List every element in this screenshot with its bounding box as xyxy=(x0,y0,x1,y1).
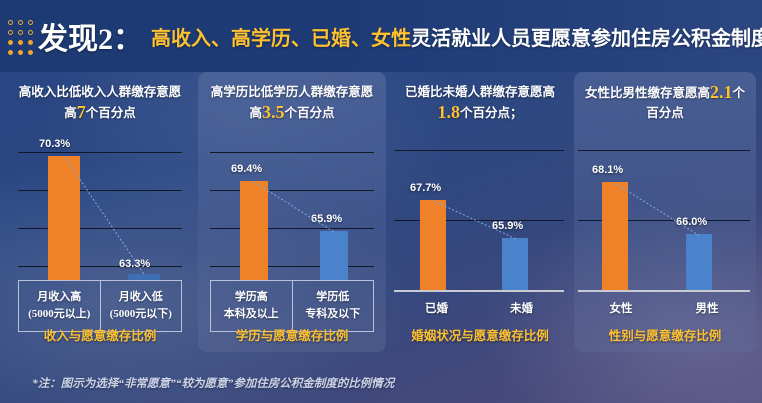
bar-value-high: 67.7% xyxy=(410,182,441,194)
category-cell: 学历低 专科及以下 xyxy=(292,281,374,331)
bar-high xyxy=(240,181,268,280)
bar-high xyxy=(48,156,80,280)
headline-post: 个百分点； xyxy=(460,106,523,120)
stat-card-gender: 女性比男性缴存意愿高2.1个百分点 68.1% 66.0% 女性 男性 性别与愿… xyxy=(574,72,756,352)
headline-number: 3.5 xyxy=(262,102,285,122)
bar-chart-plot: 69.4% 65.9% xyxy=(198,146,386,280)
card-title: 婚姻状况与愿意缴存比例 xyxy=(390,325,570,344)
headline-number: 1.8 xyxy=(437,102,460,122)
gridline xyxy=(210,228,374,229)
card-headline: 女性比男性缴存意愿高2.1个百分点 xyxy=(574,82,756,123)
bar-value-high: 68.1% xyxy=(592,164,623,176)
card-title: 收入与愿意缴存比例 xyxy=(6,325,194,344)
dot-grid-icon xyxy=(8,20,35,57)
axis-baseline xyxy=(394,290,564,292)
category-line1: 月收入低 xyxy=(119,289,163,306)
trend-connector xyxy=(6,146,194,280)
finding-label: 发现2： xyxy=(38,14,143,58)
category-line1: 月收入高 xyxy=(37,289,81,306)
bar-low xyxy=(320,231,348,280)
gridline xyxy=(18,190,182,191)
bar-value-low: 66.0% xyxy=(676,216,707,228)
category-cell: 男性 xyxy=(664,300,750,322)
bar-chart-plot: 67.7% 65.9% xyxy=(390,146,570,292)
gridline xyxy=(18,266,182,267)
category-cell: 已婚 xyxy=(394,300,479,322)
category-cell: 未婚 xyxy=(479,300,564,322)
category-line1: 学历高 xyxy=(235,289,268,306)
category-line1: 学历低 xyxy=(316,289,349,306)
headline-pre: 女性比男性缴存意愿高 xyxy=(585,86,710,100)
headline-post: 个百分点 xyxy=(86,106,136,120)
bar-value-low: 65.9% xyxy=(311,213,342,225)
headline-post: 个百分点 xyxy=(285,106,335,120)
header-title-wrap: 发现2： 高收入、高学历、已婚、女性灵活就业人员更愿意参加住房公积金制度 xyxy=(38,0,758,72)
category-line2: (5000元以下) xyxy=(110,306,172,323)
trend-connector xyxy=(198,146,386,280)
gridline xyxy=(578,150,750,151)
category-label-row: 女性 男性 xyxy=(578,300,750,322)
bar-value-high: 70.3% xyxy=(39,138,70,150)
stat-card-education: 高学历比低学历人群缴存意愿高3.5个百分点 69.4% 65.9% 学历高 本科… xyxy=(198,72,386,352)
category-cell: 学历高 本科及以上 xyxy=(211,281,292,331)
trend-connector xyxy=(390,146,570,292)
header-subtitle: 高收入、高学历、已婚、女性灵活就业人员更愿意参加住房公积金制度 xyxy=(151,22,762,51)
gridline xyxy=(210,266,374,267)
category-cell: 月收入低 (5000元以下) xyxy=(100,281,182,331)
bar-value-low: 63.3% xyxy=(119,258,150,270)
card-headline: 高收入比低收入人群缴存意愿高7个百分点 xyxy=(6,82,194,123)
card-title: 学历与愿意缴存比例 xyxy=(198,325,386,344)
bar-value-high: 69.4% xyxy=(231,163,262,175)
bar-high xyxy=(420,200,446,290)
card-headline: 已婚比未婚人群缴存意愿高1.8个百分点； xyxy=(390,82,570,123)
gridline xyxy=(18,152,182,153)
category-line2: 专科及以下 xyxy=(305,306,360,323)
gridline xyxy=(18,228,182,229)
axis-baseline xyxy=(578,290,750,292)
category-label-row: 已婚 未婚 xyxy=(394,300,564,322)
header-rest-text: 灵活就业人员更愿意参加住房公积金制度 xyxy=(411,28,762,50)
card-headline: 高学历比低学历人群缴存意愿高3.5个百分点 xyxy=(198,82,386,123)
stat-card-marriage: 已婚比未婚人群缴存意愿高1.8个百分点； 67.7% 65.9% 已婚 未婚 婚… xyxy=(390,72,570,352)
bar-chart-plot: 70.3% 63.3% xyxy=(6,146,194,280)
footnote: *注：图示为选择“非常愿意”“较为愿意”参加住房公积金制度的比例情况 xyxy=(32,375,394,391)
headline-number: 7 xyxy=(77,102,86,122)
slide-canvas: 发现2： 高收入、高学历、已婚、女性灵活就业人员更愿意参加住房公积金制度 高收入… xyxy=(0,0,762,403)
gridline xyxy=(210,190,374,191)
header-highlight-text: 高收入、高学历、已婚、女性 xyxy=(151,28,411,50)
cards-row: 高收入比低收入人群缴存意愿高7个百分点 70.3% 63.3% 月收入高 (50… xyxy=(0,72,762,352)
headline-number: 2.1 xyxy=(710,82,733,102)
gridline xyxy=(210,152,374,153)
bar-chart-plot: 68.1% 66.0% xyxy=(574,146,756,292)
card-title: 性别与愿意缴存比例 xyxy=(574,325,756,344)
category-cell: 女性 xyxy=(578,300,664,322)
category-line2: (5000元以上) xyxy=(28,306,90,323)
bar-high xyxy=(602,182,628,290)
gridline xyxy=(394,150,564,151)
category-line2: 本科及以上 xyxy=(224,306,279,323)
category-cell: 月收入高 (5000元以上) xyxy=(19,281,100,331)
headline-pre: 已婚比未婚人群缴存意愿高 xyxy=(405,85,555,99)
bar-low xyxy=(502,238,528,290)
stat-card-income: 高收入比低收入人群缴存意愿高7个百分点 70.3% 63.3% 月收入高 (50… xyxy=(6,72,194,352)
slide-header: 发现2： 高收入、高学历、已婚、女性灵活就业人员更愿意参加住房公积金制度 xyxy=(0,0,762,72)
bar-value-low: 65.9% xyxy=(492,220,523,232)
bar-low xyxy=(686,234,712,290)
